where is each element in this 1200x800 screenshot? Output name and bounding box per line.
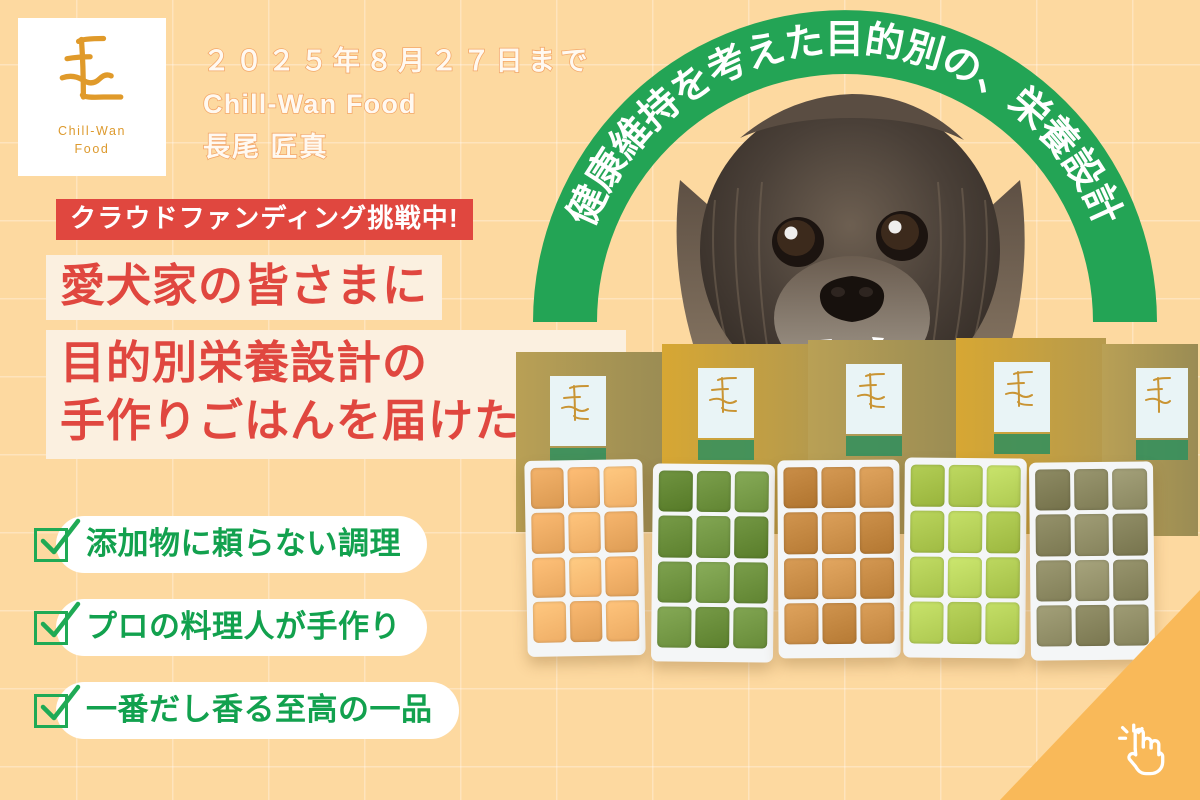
- tray-cell: [1035, 469, 1070, 511]
- checklist-label: プロの料理人が手作り: [56, 599, 427, 656]
- tray-cell: [1074, 469, 1109, 511]
- tray-brown: [777, 460, 900, 659]
- tray-cell: [733, 607, 767, 649]
- campaign-meta: ２０２５年８月２７日まで Chill-Wan Food 長尾 匠真: [203, 48, 673, 161]
- tray-cell: [605, 556, 638, 597]
- tray-grey-green: [1029, 461, 1155, 660]
- tray-cell: [657, 606, 691, 648]
- tray-cell: [532, 557, 565, 598]
- tray-cell: [605, 511, 638, 552]
- tray-cell: [821, 467, 855, 508]
- list-item: プロの料理人が手作り: [34, 599, 459, 656]
- tray-cell: [1113, 514, 1148, 556]
- tray-cell: [822, 557, 856, 598]
- brand-logo: Chill-WanFood: [18, 18, 166, 176]
- checklist-label: 一番だし香る至高の一品: [56, 682, 459, 739]
- checkbox-icon: [34, 528, 68, 562]
- tray-light-green: [903, 457, 1027, 658]
- tray-cell: [909, 602, 943, 644]
- tray-cell: [985, 602, 1019, 644]
- tray-cell: [783, 467, 817, 508]
- tray-cell: [696, 516, 730, 558]
- campaign-banner: Chill-WanFood ２０２５年８月２７日まで Chill-Wan Foo…: [0, 0, 1200, 800]
- tray-cell: [606, 600, 639, 641]
- checkbox-icon: [34, 694, 68, 728]
- tray-cell: [1075, 605, 1110, 647]
- tray-cell: [860, 557, 894, 598]
- logo-wordmark: Chill-WanFood: [58, 122, 126, 158]
- tray-cell: [530, 467, 563, 508]
- tap-hand-icon[interactable]: [1110, 716, 1172, 778]
- tray-cell: [697, 471, 731, 513]
- tray-cell: [1036, 514, 1071, 556]
- tray-cell: [910, 465, 944, 507]
- tray-cell: [822, 603, 856, 644]
- tray-cell: [604, 466, 637, 507]
- tray-cell: [659, 470, 693, 512]
- tray-cell: [1113, 559, 1148, 601]
- feature-checklist: 添加物に頼らない調理 プロの料理人が手作り 一番だし香る至高の一品: [34, 516, 459, 765]
- tray-cell: [1114, 604, 1149, 646]
- tray-cell: [568, 511, 601, 552]
- campaign-brand: Chill-Wan Food: [203, 91, 673, 118]
- ice-cube-trays: [500, 440, 1200, 700]
- tray-cell: [734, 516, 768, 558]
- tray-cell: [860, 602, 894, 643]
- tray-cell: [567, 467, 600, 508]
- tray-cell: [1112, 468, 1147, 510]
- headline-line-1: 愛犬家の皆さまに: [46, 255, 442, 320]
- tray-cell: [696, 561, 730, 603]
- tray-cell: [986, 465, 1020, 507]
- tray-cell: [859, 467, 893, 508]
- tray-cell: [531, 512, 564, 553]
- tray-cell: [735, 471, 769, 513]
- tray-cell: [947, 602, 981, 644]
- tray-cell: [910, 510, 944, 552]
- tray-cell: [784, 603, 818, 644]
- tray-cell: [1036, 560, 1071, 602]
- tray-cell: [1036, 605, 1071, 647]
- tray-cell: [860, 512, 894, 553]
- checklist-label: 添加物に頼らない調理: [56, 516, 427, 573]
- tray-cell: [784, 558, 818, 599]
- tray-dark-green: [651, 463, 775, 662]
- tray-cell: [822, 512, 856, 553]
- tray-orange: [524, 459, 645, 657]
- campaign-deadline: ２０２５年８月２７日まで: [203, 48, 673, 75]
- tray-cell: [695, 607, 729, 649]
- campaign-owner: 長尾 匠真: [203, 134, 673, 161]
- logo-brushstroke-icon: [44, 28, 140, 120]
- checkbox-icon: [34, 611, 68, 645]
- tray-cell: [1074, 514, 1109, 556]
- list-item: 添加物に頼らない調理: [34, 516, 459, 573]
- list-item: 一番だし香る至高の一品: [34, 682, 459, 739]
- tray-cell: [986, 557, 1020, 599]
- tray-cell: [986, 511, 1020, 553]
- crowdfunding-badge: クラウドファンディング挑戦中!: [56, 199, 473, 240]
- tray-cell: [734, 562, 768, 604]
- tray-cell: [948, 511, 982, 553]
- tray-cell: [1075, 559, 1110, 601]
- tray-cell: [948, 465, 982, 507]
- tray-cell: [569, 556, 602, 597]
- tray-cell: [533, 602, 566, 643]
- tray-cell: [948, 556, 982, 598]
- tray-cell: [658, 561, 692, 603]
- tray-cell: [910, 556, 944, 598]
- tray-cell: [569, 601, 602, 642]
- tray-cell: [784, 512, 818, 553]
- tray-cell: [658, 516, 692, 558]
